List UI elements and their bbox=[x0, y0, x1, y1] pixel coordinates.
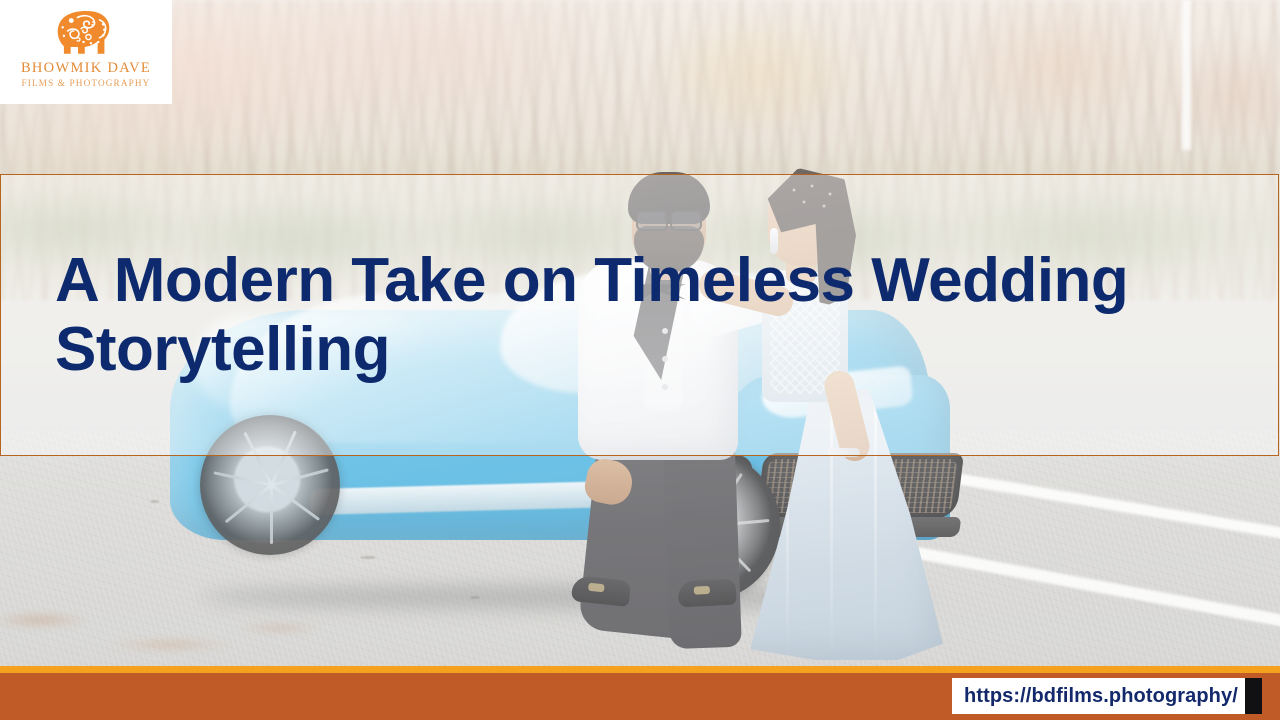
photo-top-vignette bbox=[0, 0, 1280, 180]
headline-panel: A Modern Take on Timeless Wedding Storyt… bbox=[0, 174, 1279, 456]
footer-accent-rule bbox=[0, 666, 1280, 673]
brand-tagline: FILMS & PHOTOGRAPHY bbox=[22, 78, 151, 88]
presentation-slide: BHOWMIK DAVE FILMS & PHOTOGRAPHY A Moder… bbox=[0, 0, 1280, 720]
website-url-box[interactable]: https://bdfilms.photography/ bbox=[952, 678, 1262, 714]
brand-name: BHOWMIK DAVE bbox=[21, 60, 151, 77]
brand-logo-card: BHOWMIK DAVE FILMS & PHOTOGRAPHY bbox=[0, 0, 172, 104]
page-title: A Modern Take on Timeless Wedding Storyt… bbox=[1, 246, 1165, 385]
text-caret bbox=[1245, 678, 1262, 714]
website-url: https://bdfilms.photography/ bbox=[964, 685, 1238, 708]
elephant-icon bbox=[49, 4, 123, 58]
